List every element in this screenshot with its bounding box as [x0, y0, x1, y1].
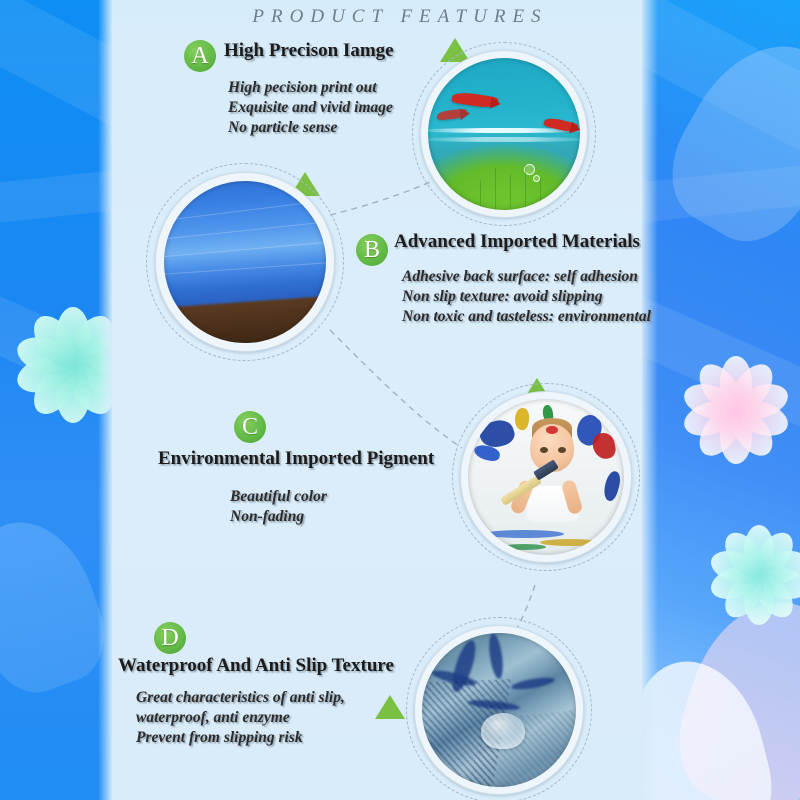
- feature-d-line-2: waterproof, anti enzyme: [136, 708, 345, 728]
- feature-c-heading: Environmental Imported Pigment: [158, 448, 434, 470]
- badge-c: C: [234, 411, 266, 443]
- feature-b-line-1: Adhesive back surface: self adhesion: [402, 267, 651, 287]
- page-title: PRODUCT FEATURES: [0, 6, 800, 28]
- product-features-poster: PRODUCT FEATURES A High Precison Iamge H…: [0, 0, 800, 800]
- feature-b-line-2: Non slip texture: avoid slipping: [402, 287, 651, 307]
- feature-d-line-1: Great characteristics of anti slip,: [136, 688, 345, 708]
- background-petal: [0, 505, 112, 706]
- feature-b-heading: Advanced Imported Materials: [394, 231, 640, 253]
- feature-b-line-3: Non toxic and tasteless: environmental: [402, 307, 651, 327]
- band-edge-fade: [642, 0, 658, 800]
- badge-b: B: [356, 234, 388, 266]
- feature-a-description: High pecision print out Exquisite and vi…: [228, 78, 393, 138]
- water-droplet-icon: [481, 713, 525, 749]
- flower-motif-icon: [676, 350, 796, 470]
- facet-shape: [0, 159, 112, 230]
- flower-motif-icon: [704, 520, 800, 630]
- badge-d: D: [154, 622, 186, 654]
- feature-b-description: Adhesive back surface: self adhesion Non…: [402, 267, 651, 327]
- fish-icon: [437, 108, 468, 120]
- feature-c-description: Beautiful color Non-fading: [230, 487, 327, 527]
- feature-d-heading: Waterproof And Anti Slip Texture: [118, 655, 394, 677]
- feature-a-line-3: No particle sense: [228, 118, 393, 138]
- feature-d-image: [422, 633, 576, 787]
- feature-d-description: Great characteristics of anti slip, wate…: [136, 688, 345, 748]
- feature-c-image: [468, 399, 624, 555]
- flower-motif-icon: [8, 300, 112, 430]
- feature-a-line-2: Exquisite and vivid image: [228, 98, 393, 118]
- badge-a: A: [184, 40, 216, 72]
- right-decorative-band: [642, 0, 800, 800]
- feature-a-line-1: High pecision print out: [228, 78, 393, 98]
- left-decorative-band: [0, 0, 112, 800]
- feature-c-line-2: Non-fading: [230, 507, 327, 527]
- feature-a-image: [428, 58, 580, 210]
- band-edge-fade: [98, 0, 112, 800]
- bubble-icon: [533, 175, 540, 182]
- feature-d-line-3: Prevent from slipping risk: [136, 728, 345, 748]
- feature-a-heading: High Precison Iamge: [224, 40, 394, 62]
- feature-b-image: [164, 181, 326, 343]
- feature-c-line-1: Beautiful color: [230, 487, 327, 507]
